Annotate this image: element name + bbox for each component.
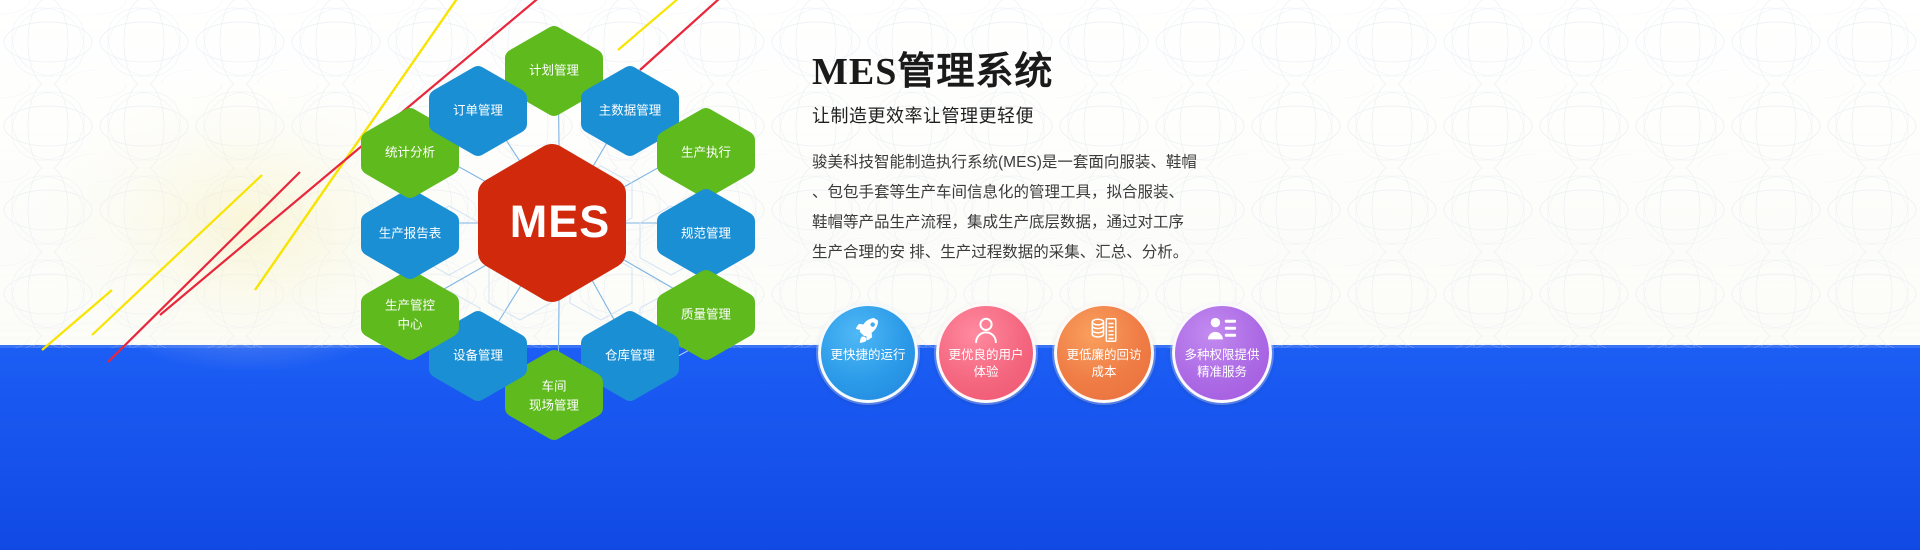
hex-node-1-label: 主数据管理 [599,102,662,117]
description-line-1: 骏美科技智能制造执行系统(MES)是一套面向服装、鞋帽 [812,148,1264,178]
hex-node-9[interactable]: 生产报告表 [361,189,459,279]
hex-node-9-label: 生产报告表 [379,225,442,240]
hex-node-6-label-line2: 现场管理 [529,397,580,412]
description-line-4: 生产合理的安 排、生产过程数据的采集、汇总、分析。 [812,238,1264,268]
hex-node-3[interactable]: 规范管理 [657,189,755,279]
page-title: MES管理系统 [812,52,1292,94]
hex-node-4-label: 质量管理 [681,306,732,321]
badge-3-line1: 更低廉的回访 [1066,348,1141,362]
description-line-2: 、包包手套等生产车间信息化的管理工具，拟合服装、 [812,178,1264,208]
user-list-icon [1207,315,1237,345]
badge-2-line1: 更优良的用户 [948,348,1023,362]
badge-4-line2: 精准服务 [1197,365,1247,379]
mes-hexagon-diagram: MES 计划管理 主数据管理 生产执行 规范管理 质量管理 [330,18,790,448]
badge-1-text: 更快捷的运行 [821,347,915,364]
hex-node-6-label-line1: 车间 [541,378,566,393]
badge-faster-operation[interactable]: 更快捷的运行 [818,303,918,403]
hex-node-8-label-line2: 中心 [397,316,423,331]
badge-4-text: 多种权限提供精准服务 [1175,347,1269,381]
hex-node-5-label: 仓库管理 [605,347,656,362]
content-block: MES管理系统 让制造更效率让管理更轻便 骏美科技智能制造执行系统(MES)是一… [812,52,1292,269]
description-line-3: 鞋帽等产品生产流程，集成生产底层数据，通过对工序 [812,208,1264,238]
rocket-icon [853,315,883,345]
feature-badges: 更快捷的运行 更优良的用户体验 更低廉的回访成本 [818,303,1288,423]
badge-1-line1: 更快捷的运行 [830,348,905,362]
hex-node-3-label: 规范管理 [681,225,732,240]
badge-better-user-experience[interactable]: 更优良的用户体验 [936,303,1036,403]
badge-2-text: 更优良的用户体验 [939,347,1033,381]
description-paragraph: 骏美科技智能制造执行系统(MES)是一套面向服装、鞋帽 、包包手套等生产车间信息… [812,148,1264,269]
badge-3-text: 更低廉的回访成本 [1057,347,1151,381]
badge-lower-revisit-cost[interactable]: 更低廉的回访成本 [1054,303,1154,403]
coins-icon [1089,315,1119,345]
hex-node-7-label: 设备管理 [453,347,504,362]
user-icon [971,315,1001,345]
badge-2-line2: 体验 [973,365,998,379]
mes-banner: MES 计划管理 主数据管理 生产执行 规范管理 质量管理 [0,0,1920,550]
hex-node-11-label: 订单管理 [453,102,504,117]
hex-node-8-label-line1: 生产管控 [385,297,436,312]
page-subtitle: 让制造更效率让管理更轻便 [812,102,1292,128]
badge-4-line1: 多种权限提供 [1184,348,1259,362]
hex-node-0-label: 计划管理 [529,62,580,77]
badge-3-line2: 成本 [1091,365,1116,379]
hex-node-10-label: 统计分析 [385,145,435,159]
center-node-label: MES [510,196,611,247]
hex-node-2-label: 生产执行 [681,145,731,159]
badge-multi-permission-service[interactable]: 多种权限提供精准服务 [1172,303,1272,403]
